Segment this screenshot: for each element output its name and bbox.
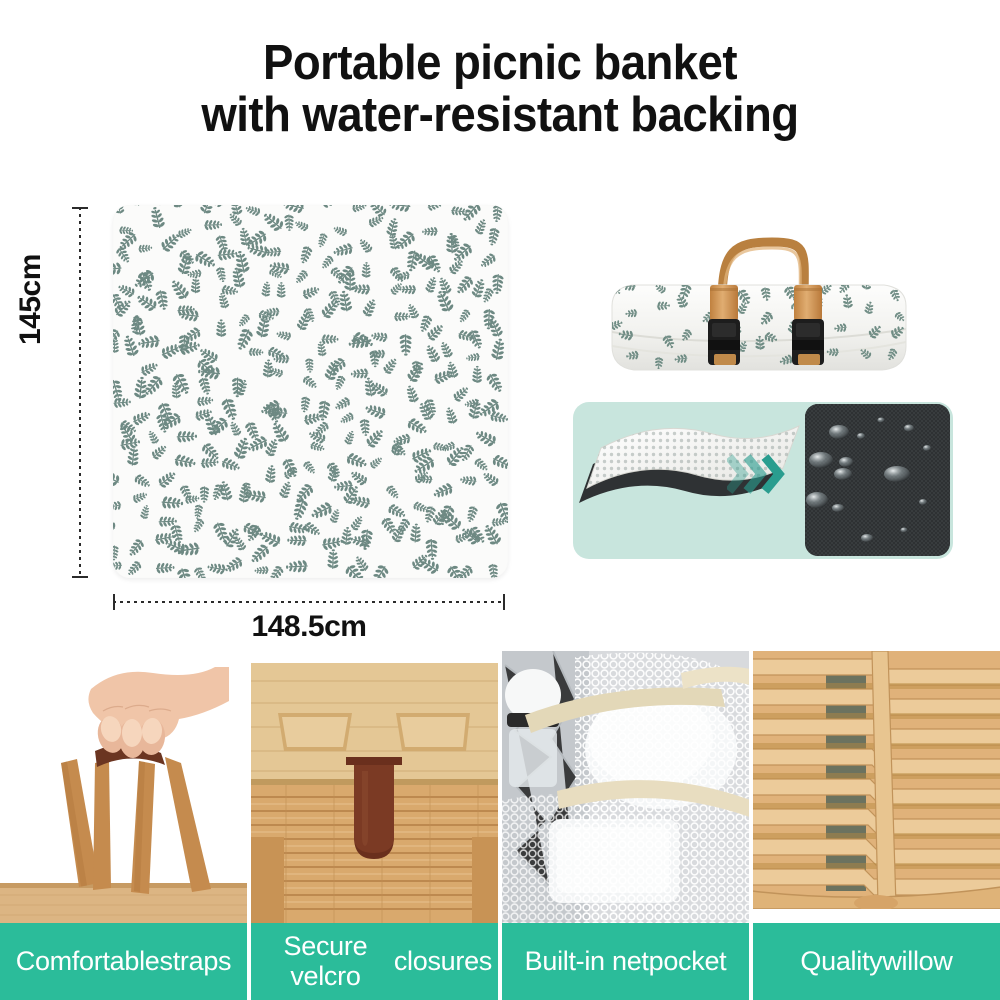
product-infographic: Portable picnic banket with water-resist…: [0, 0, 1000, 1000]
caption-line-2: straps: [160, 947, 232, 976]
strap-right: [792, 285, 824, 365]
caption-line-1: Quality: [800, 947, 882, 976]
feature-caption-built-in-net-pocket: Built-in net pocket: [502, 923, 749, 1000]
caption-line-1: Secure velcro: [257, 932, 394, 990]
feature-tile-comfortable-straps: Comfortable straps: [0, 651, 247, 1000]
feature-caption-quality-willow: Quality willow: [753, 923, 1000, 1000]
dimension-cap-left: [113, 594, 115, 610]
rolled-blanket-image: [604, 228, 954, 388]
blanket-surface: [113, 205, 508, 578]
photo-willow-wicker-corner: [753, 651, 1000, 923]
feature-tile-quality-willow: Quality willow: [753, 651, 1000, 1000]
width-dimension-label: 148.5cm: [113, 610, 505, 644]
photo-net-pocket: [502, 651, 749, 923]
caption-line-2: willow: [882, 947, 952, 976]
dimension-cap-right: [503, 594, 505, 610]
photo-hand-holding-straps: [0, 651, 247, 923]
height-dimension-label: 145cm: [14, 254, 48, 345]
dimension-cap-bottom: [72, 576, 88, 578]
page-title: Portable picnic banket with water-resist…: [35, 38, 965, 142]
water-beading-swatch: [805, 404, 950, 556]
feature-caption-secure-velcro-closures: Secure velcro closures: [251, 923, 498, 1000]
dimension-cap-top: [72, 207, 88, 209]
height-dimension-line: [79, 207, 81, 578]
caption-line-2: closures: [394, 947, 492, 976]
caption-line-1: Comfortable: [16, 947, 160, 976]
photo-wooden-lid-velcro-tab: [251, 651, 498, 923]
headline-line-1: Portable picnic banket: [35, 38, 965, 90]
feature-tile-secure-velcro-closures: Secure velcro closures: [251, 651, 498, 1000]
flat-blanket-image: [113, 205, 508, 578]
caption-line-2: pocket: [649, 947, 727, 976]
feature-tile-built-in-net-pocket: Built-in net pocket: [502, 651, 749, 1000]
feature-tiles: Comfortable straps: [0, 651, 1000, 1000]
feature-caption-comfortable-straps: Comfortable straps: [0, 923, 247, 1000]
strap-left: [708, 285, 740, 365]
headline-line-2: with water-resistant backing: [35, 90, 965, 142]
caption-line-1: Built-in net: [525, 947, 649, 976]
chevron-right-icons: [727, 452, 789, 496]
width-dimension-line: [113, 601, 505, 603]
leaf-pattern: [113, 205, 508, 578]
